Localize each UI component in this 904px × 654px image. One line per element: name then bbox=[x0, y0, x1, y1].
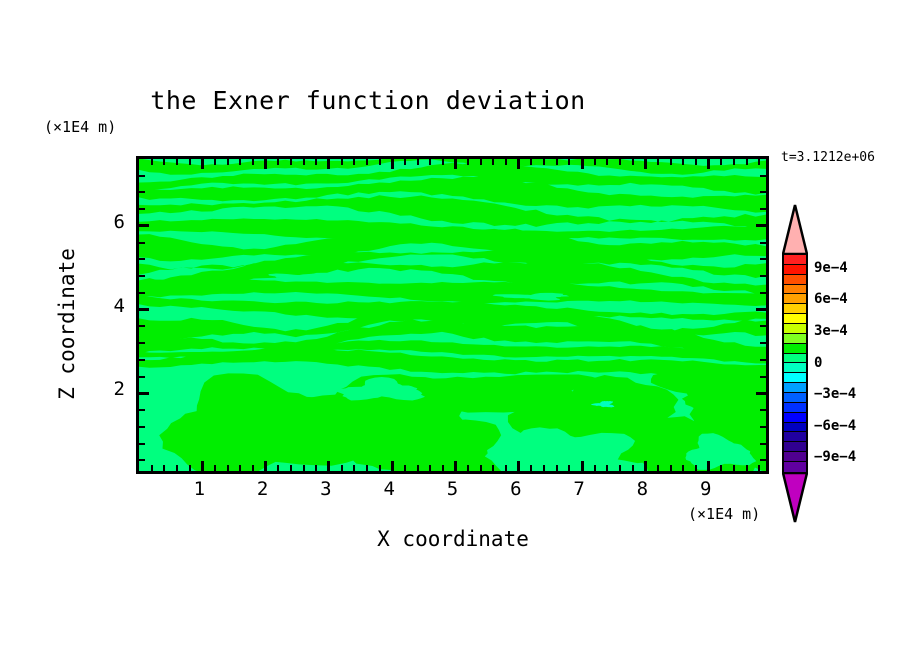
colorbar-band bbox=[784, 255, 806, 265]
y-axis-minor-tick bbox=[139, 325, 145, 327]
x-axis-minor-tick bbox=[404, 465, 406, 471]
y-axis-minor-tick bbox=[139, 342, 145, 344]
x-axis-minor-tick bbox=[619, 159, 621, 165]
colorbar-band bbox=[784, 334, 806, 344]
x-axis-minor-tick bbox=[632, 465, 634, 471]
colorbar-band bbox=[784, 462, 806, 472]
y-axis-major-tick bbox=[756, 224, 766, 227]
x-axis-minor-tick bbox=[151, 465, 153, 471]
y-axis-minor-tick bbox=[760, 409, 766, 411]
y-axis-minor-tick bbox=[760, 359, 766, 361]
colorbar-band bbox=[784, 403, 806, 413]
x-axis-minor-tick bbox=[594, 159, 596, 165]
y-axis-major-tick bbox=[756, 308, 766, 311]
y-axis-minor-tick bbox=[760, 325, 766, 327]
x-axis-minor-tick bbox=[733, 159, 735, 165]
x-axis-minor-tick bbox=[277, 159, 279, 165]
y-axis-major-tick bbox=[139, 392, 149, 395]
y-axis-minor-tick bbox=[139, 376, 145, 378]
x-axis-minor-tick bbox=[252, 159, 254, 165]
x-axis-minor-tick bbox=[379, 159, 381, 165]
y-axis-minor-tick bbox=[139, 275, 145, 277]
x-axis-minor-tick bbox=[417, 465, 419, 471]
x-axis-major-tick bbox=[581, 159, 584, 169]
colorbar-band bbox=[784, 324, 806, 334]
colorbar-band bbox=[784, 383, 806, 393]
y-axis-minor-tick bbox=[139, 443, 145, 445]
colorbar-band bbox=[784, 285, 806, 295]
time-annotation: t=3.1212e+06 bbox=[781, 150, 875, 165]
y-axis-minor-tick bbox=[760, 459, 766, 461]
colorbar-band bbox=[784, 294, 806, 304]
x-axis-minor-tick bbox=[252, 465, 254, 471]
colorbar-tick-label: 3e−4 bbox=[814, 323, 848, 339]
x-axis-major-tick bbox=[707, 159, 710, 169]
x-axis-minor-tick bbox=[353, 465, 355, 471]
x-axis-minor-tick bbox=[315, 465, 317, 471]
y-axis-title: Z coordinate bbox=[55, 234, 79, 414]
x-axis-minor-tick bbox=[214, 465, 216, 471]
y-axis-minor-tick bbox=[139, 258, 145, 260]
x-axis-major-tick bbox=[454, 461, 457, 471]
x-axis-minor-tick bbox=[442, 159, 444, 165]
colorbar-tick-label: −9e−4 bbox=[814, 449, 856, 465]
y-axis-minor-tick bbox=[760, 191, 766, 193]
y-axis-minor-tick bbox=[139, 409, 145, 411]
colorbar-band bbox=[784, 393, 806, 403]
colorbar-band bbox=[784, 265, 806, 275]
colorbar-bands bbox=[782, 253, 808, 474]
x-axis-minor-tick bbox=[543, 465, 545, 471]
y-axis-tick-label: 6 bbox=[99, 211, 125, 233]
x-axis-minor-tick bbox=[556, 159, 558, 165]
y-axis-minor-tick bbox=[139, 459, 145, 461]
colorbar-band bbox=[784, 314, 806, 324]
y-axis-minor-tick bbox=[760, 376, 766, 378]
x-axis-minor-tick bbox=[176, 465, 178, 471]
colorbar-under-arrow bbox=[782, 472, 808, 523]
x-axis-major-tick bbox=[644, 159, 647, 169]
colorbar: 9e−46e−43e−40−3e−4−6e−4−9e−4 bbox=[778, 198, 812, 528]
y-axis-minor-tick bbox=[760, 242, 766, 244]
x-axis-tick-label: 4 bbox=[374, 478, 404, 500]
colorbar-tick-label: −3e−4 bbox=[814, 386, 856, 402]
y-axis-major-tick bbox=[756, 392, 766, 395]
x-axis-minor-tick bbox=[467, 159, 469, 165]
x-axis-minor-tick bbox=[290, 159, 292, 165]
x-axis-tick-label: 5 bbox=[438, 478, 468, 500]
x-axis-minor-tick bbox=[442, 465, 444, 471]
x-axis-major-tick bbox=[517, 159, 520, 169]
y-axis-minor-tick bbox=[760, 342, 766, 344]
x-axis-minor-tick bbox=[214, 159, 216, 165]
x-axis-minor-tick bbox=[619, 465, 621, 471]
x-axis-minor-tick bbox=[303, 159, 305, 165]
y-axis-minor-tick bbox=[760, 275, 766, 277]
y-axis-minor-tick bbox=[139, 292, 145, 294]
x-axis-major-tick bbox=[454, 159, 457, 169]
x-axis-minor-tick bbox=[758, 159, 760, 165]
x-axis-unit-label: (×1E4 m) bbox=[688, 505, 760, 523]
x-axis-minor-tick bbox=[315, 159, 317, 165]
contour-plot-area bbox=[136, 156, 769, 474]
x-axis-minor-tick bbox=[556, 465, 558, 471]
x-axis-minor-tick bbox=[670, 465, 672, 471]
x-axis-minor-tick bbox=[429, 465, 431, 471]
y-axis-major-tick bbox=[139, 308, 149, 311]
colorbar-band bbox=[784, 354, 806, 364]
colorbar-band bbox=[784, 344, 806, 354]
x-axis-tick-label: 2 bbox=[248, 478, 278, 500]
x-axis-minor-tick bbox=[189, 159, 191, 165]
x-axis-minor-tick bbox=[670, 159, 672, 165]
x-axis-minor-tick bbox=[366, 465, 368, 471]
x-axis-minor-tick bbox=[277, 465, 279, 471]
x-axis-minor-tick bbox=[151, 159, 153, 165]
x-axis-major-tick bbox=[201, 159, 204, 169]
y-axis-tick-label: 2 bbox=[99, 378, 125, 400]
x-axis-minor-tick bbox=[492, 159, 494, 165]
x-axis-minor-tick bbox=[429, 159, 431, 165]
x-axis-tick-label: 9 bbox=[691, 478, 721, 500]
y-axis-unit-label: (×1E4 m) bbox=[44, 118, 116, 136]
y-axis-minor-tick bbox=[139, 426, 145, 428]
x-axis-minor-tick bbox=[568, 159, 570, 165]
x-axis-minor-tick bbox=[227, 465, 229, 471]
x-axis-tick-label: 1 bbox=[184, 478, 214, 500]
x-axis-major-tick bbox=[264, 159, 267, 169]
x-axis-major-tick bbox=[391, 159, 394, 169]
colorbar-over-arrow bbox=[782, 204, 808, 255]
x-axis-minor-tick bbox=[189, 465, 191, 471]
x-axis-tick-label: 3 bbox=[311, 478, 341, 500]
x-axis-major-tick bbox=[517, 461, 520, 471]
y-axis-minor-tick bbox=[139, 175, 145, 177]
x-axis-minor-tick bbox=[720, 159, 722, 165]
x-axis-minor-tick bbox=[682, 465, 684, 471]
colorbar-band bbox=[784, 304, 806, 314]
x-axis-minor-tick bbox=[543, 159, 545, 165]
x-axis-minor-tick bbox=[746, 465, 748, 471]
x-axis-minor-tick bbox=[746, 159, 748, 165]
x-axis-minor-tick bbox=[163, 159, 165, 165]
y-axis-minor-tick bbox=[139, 191, 145, 193]
contour-field bbox=[139, 159, 766, 471]
x-axis-minor-tick bbox=[657, 465, 659, 471]
y-axis-minor-tick bbox=[760, 426, 766, 428]
x-axis-major-tick bbox=[327, 461, 330, 471]
x-axis-minor-tick bbox=[303, 465, 305, 471]
colorbar-band bbox=[784, 423, 806, 433]
y-axis-minor-tick bbox=[760, 292, 766, 294]
y-axis-minor-tick bbox=[139, 359, 145, 361]
x-axis-minor-tick bbox=[366, 159, 368, 165]
y-axis-major-tick bbox=[139, 224, 149, 227]
x-axis-minor-tick bbox=[341, 159, 343, 165]
x-axis-major-tick bbox=[581, 461, 584, 471]
x-axis-major-tick bbox=[707, 461, 710, 471]
x-axis-minor-tick bbox=[417, 159, 419, 165]
x-axis-major-tick bbox=[201, 461, 204, 471]
y-axis-minor-tick bbox=[760, 175, 766, 177]
colorbar-tick-label: −6e−4 bbox=[814, 418, 856, 434]
x-axis-minor-tick bbox=[568, 465, 570, 471]
x-axis-minor-tick bbox=[530, 159, 532, 165]
x-axis-minor-tick bbox=[467, 465, 469, 471]
page-title: the Exner function deviation bbox=[0, 86, 736, 115]
x-axis-minor-tick bbox=[492, 465, 494, 471]
colorbar-band bbox=[784, 452, 806, 462]
x-axis-minor-tick bbox=[530, 465, 532, 471]
x-axis-minor-tick bbox=[353, 159, 355, 165]
colorbar-tick-label: 9e−4 bbox=[814, 260, 848, 276]
x-axis-major-tick bbox=[391, 461, 394, 471]
x-axis-tick-label: 6 bbox=[501, 478, 531, 500]
x-axis-minor-tick bbox=[480, 465, 482, 471]
x-axis-minor-tick bbox=[239, 159, 241, 165]
x-axis-minor-tick bbox=[758, 465, 760, 471]
x-axis-minor-tick bbox=[720, 465, 722, 471]
x-axis-major-tick bbox=[264, 461, 267, 471]
x-axis-minor-tick bbox=[505, 465, 507, 471]
x-axis-minor-tick bbox=[695, 159, 697, 165]
x-axis-minor-tick bbox=[227, 159, 229, 165]
y-axis-minor-tick bbox=[139, 242, 145, 244]
x-axis-minor-tick bbox=[176, 159, 178, 165]
y-axis-tick-label: 4 bbox=[99, 295, 125, 317]
x-axis-minor-tick bbox=[733, 465, 735, 471]
x-axis-tick-label: 7 bbox=[564, 478, 594, 500]
x-axis-minor-tick bbox=[606, 159, 608, 165]
x-axis-minor-tick bbox=[657, 159, 659, 165]
x-axis-minor-tick bbox=[239, 465, 241, 471]
x-axis-title: X coordinate bbox=[250, 527, 656, 551]
x-axis-minor-tick bbox=[290, 465, 292, 471]
x-axis-minor-tick bbox=[163, 465, 165, 471]
colorbar-band bbox=[784, 413, 806, 423]
colorbar-band bbox=[784, 442, 806, 452]
x-axis-minor-tick bbox=[682, 159, 684, 165]
colorbar-tick-label: 6e−4 bbox=[814, 291, 848, 307]
y-axis-minor-tick bbox=[139, 208, 145, 210]
x-axis-minor-tick bbox=[480, 159, 482, 165]
x-axis-minor-tick bbox=[594, 465, 596, 471]
x-axis-major-tick bbox=[644, 461, 647, 471]
x-axis-minor-tick bbox=[505, 159, 507, 165]
y-axis-minor-tick bbox=[760, 208, 766, 210]
y-axis-minor-tick bbox=[760, 443, 766, 445]
colorbar-band bbox=[784, 275, 806, 285]
x-axis-minor-tick bbox=[606, 465, 608, 471]
x-axis-minor-tick bbox=[632, 159, 634, 165]
x-axis-major-tick bbox=[327, 159, 330, 169]
y-axis-minor-tick bbox=[760, 258, 766, 260]
colorbar-tick-label: 0 bbox=[814, 355, 822, 371]
x-axis-tick-label: 8 bbox=[627, 478, 657, 500]
x-axis-minor-tick bbox=[341, 465, 343, 471]
colorbar-band bbox=[784, 363, 806, 373]
x-axis-minor-tick bbox=[695, 465, 697, 471]
x-axis-minor-tick bbox=[404, 159, 406, 165]
colorbar-band bbox=[784, 432, 806, 442]
x-axis-minor-tick bbox=[379, 465, 381, 471]
colorbar-band bbox=[784, 373, 806, 383]
